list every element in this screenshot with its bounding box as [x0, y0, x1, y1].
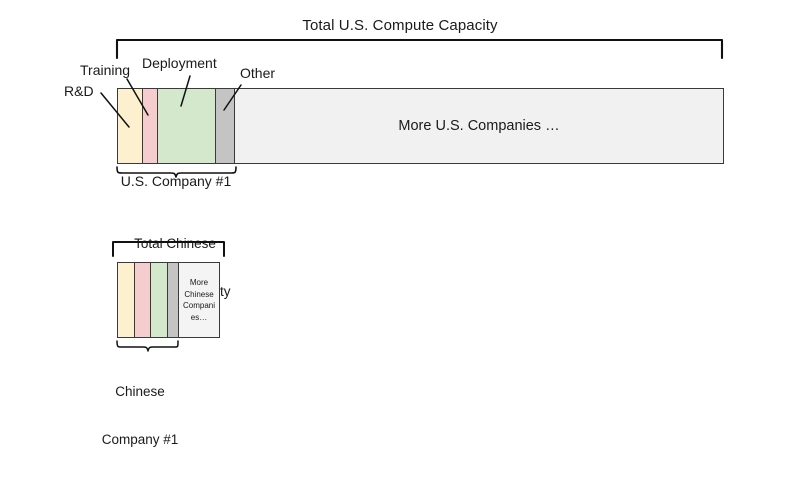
us-segment-deployment	[158, 89, 216, 163]
china-company-1-brace	[117, 341, 178, 351]
china-segment-other	[168, 263, 179, 337]
label-rnd: R&D	[64, 83, 94, 100]
china-capacity-bar: More Chinese Compani es…	[117, 262, 220, 338]
china-segment-deployment	[151, 263, 168, 337]
label-deployment: Deployment	[142, 55, 217, 72]
us-more-companies-label: More U.S. Companies …	[235, 118, 723, 134]
label-other: Other	[240, 65, 275, 82]
china-segment-rnd	[118, 263, 135, 337]
china-segment-more-companies: More Chinese Compani es…	[179, 263, 219, 337]
us-segment-rnd	[118, 89, 143, 163]
us-total-title: Total U.S. Compute Capacity	[0, 17, 800, 35]
china-company-1-label: Chinese Company #1	[45, 352, 235, 479]
china-segment-training	[135, 263, 151, 337]
china-total-title-line-1: Total Chinese	[60, 236, 290, 252]
us-segment-other	[216, 89, 235, 163]
us-capacity-bar: More U.S. Companies …	[117, 88, 724, 164]
us-segment-more-companies: More U.S. Companies …	[235, 89, 723, 163]
us-company-1-label: U.S. Company #1	[0, 173, 352, 190]
us-segment-training	[143, 89, 158, 163]
compute-capacity-diagram: Total U.S. Compute Capacity R&D Training…	[0, 0, 800, 410]
label-training: Training	[80, 62, 130, 79]
china-more-companies-label: More Chinese Compani es…	[180, 277, 218, 323]
china-company-1-label-line-1: Chinese	[45, 384, 235, 400]
china-company-1-label-line-2: Company #1	[45, 432, 235, 448]
